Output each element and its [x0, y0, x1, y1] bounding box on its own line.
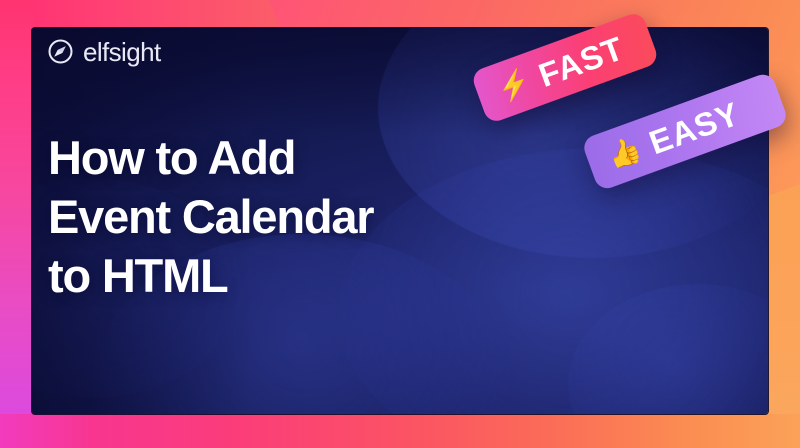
title-line-1: How to Add	[48, 128, 373, 187]
elfsight-circle-arrow-icon	[47, 38, 74, 65]
title-line-3: to HTML	[48, 246, 373, 305]
frame-edge-bottom	[0, 414, 800, 448]
video-thumbnail-banner: elfsight How to Add Event Calendar to HT…	[0, 0, 800, 448]
elfsight-wordmark: elfsight	[83, 39, 161, 65]
elfsight-logo[interactable]: elfsight	[47, 38, 161, 65]
frame-edge-left	[0, 0, 34, 448]
title-line-2: Event Calendar	[48, 187, 373, 246]
lightning-bolt-icon: ⚡	[494, 67, 536, 104]
thumbs-up-icon: 👍	[604, 135, 646, 172]
page-title: How to Add Event Calendar to HTML	[48, 128, 373, 306]
